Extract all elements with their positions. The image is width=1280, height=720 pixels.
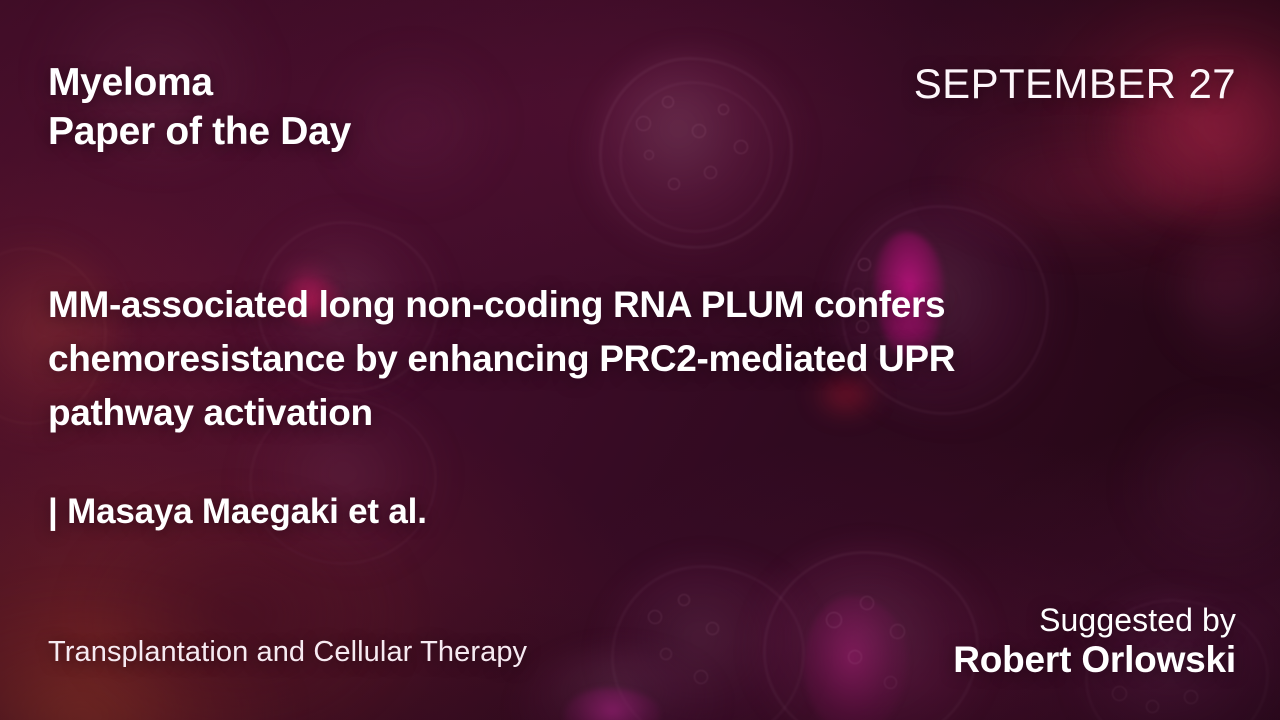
date-label: SEPTEMBER 27 — [914, 60, 1236, 108]
slide-content: Myeloma Paper of the Day SEPTEMBER 27 MM… — [0, 0, 1280, 720]
suggested-by-name: Robert Orlowski — [953, 639, 1236, 682]
brand-title: Myeloma Paper of the Day — [48, 58, 351, 156]
paper-title: MM-associated long non-coding RNA PLUM c… — [48, 278, 1108, 440]
paper-journal: Transplantation and Cellular Therapy — [48, 636, 527, 669]
paper-title-line3: pathway activation — [48, 386, 1108, 440]
paper-authors: | Masaya Maegaki et al. — [48, 492, 427, 532]
paper-title-line1: MM-associated long non-coding RNA PLUM c… — [48, 278, 1108, 332]
brand-title-line1: Myeloma — [48, 61, 213, 104]
suggested-by-label: Suggested by — [953, 602, 1236, 639]
brand-title-line2: Paper of the Day — [48, 107, 351, 156]
suggested-by-block: Suggested by Robert Orlowski — [953, 602, 1236, 682]
paper-title-line2: chemoresistance by enhancing PRC2-mediat… — [48, 332, 1108, 386]
paper-of-the-day-slide: Myeloma Paper of the Day SEPTEMBER 27 MM… — [0, 0, 1280, 720]
